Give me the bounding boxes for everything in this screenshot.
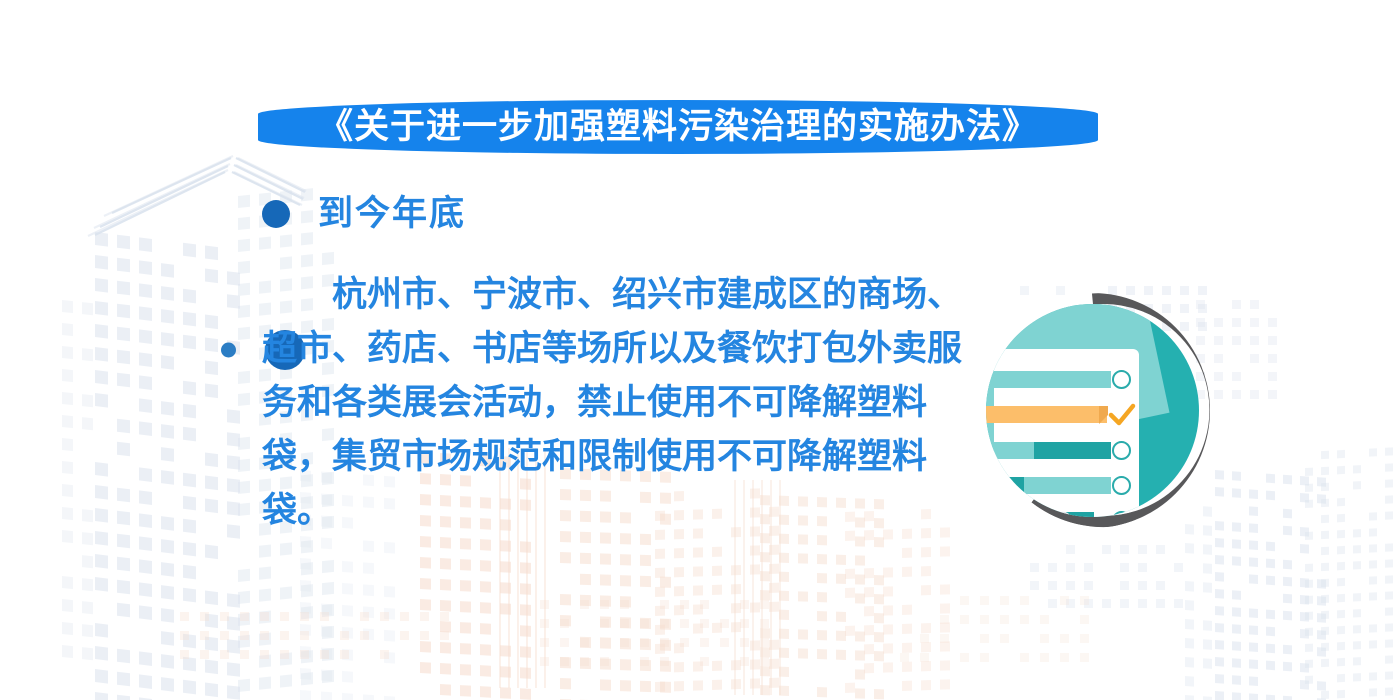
checklist-checkbox-1[interactable] bbox=[1112, 370, 1131, 389]
checklist-card bbox=[994, 349, 1139, 517]
checklist-bar-3-shade bbox=[1034, 442, 1111, 459]
page-title: 《关于进一步加强塑料污染治理的实施办法》 bbox=[318, 109, 1038, 146]
body-paragraph: 杭州市、宁波市、绍兴市建成区的商场、超市、药店、书店等场所以及餐饮打包外卖服务和… bbox=[262, 268, 974, 538]
bullet-icon bbox=[262, 200, 290, 228]
checklist-checkbox-3[interactable] bbox=[1112, 441, 1131, 460]
subheading-text: 到今年底 bbox=[318, 196, 466, 231]
hand-pointer-icon bbox=[1034, 509, 1096, 517]
title-banner: 《关于进一步加强塑料污染治理的实施办法》 bbox=[258, 100, 1098, 154]
badge-teal-disc bbox=[986, 304, 1199, 517]
checklist-badge-illustration bbox=[975, 293, 1210, 528]
body-paragraph-text: 杭州市、宁波市、绍兴市建成区的商场、超市、药店、书店等场所以及餐饮打包外卖服务和… bbox=[262, 268, 974, 538]
checklist-checkbox-5[interactable] bbox=[1112, 511, 1131, 517]
subheading-row: 到今年底 bbox=[262, 196, 466, 231]
checklist-bar-4-shade bbox=[986, 477, 1024, 494]
title-dot-left bbox=[221, 343, 236, 358]
check-icon[interactable] bbox=[1107, 401, 1137, 429]
checklist-bar-1 bbox=[986, 371, 1111, 388]
checklist-checkbox-4[interactable] bbox=[1112, 476, 1131, 495]
infographic-slide: 《关于进一步加强塑料污染治理的实施办法》 到今年底 杭州市、宁波市、绍兴市建成区… bbox=[0, 0, 1400, 700]
checklist-bar-2 bbox=[986, 406, 1107, 423]
